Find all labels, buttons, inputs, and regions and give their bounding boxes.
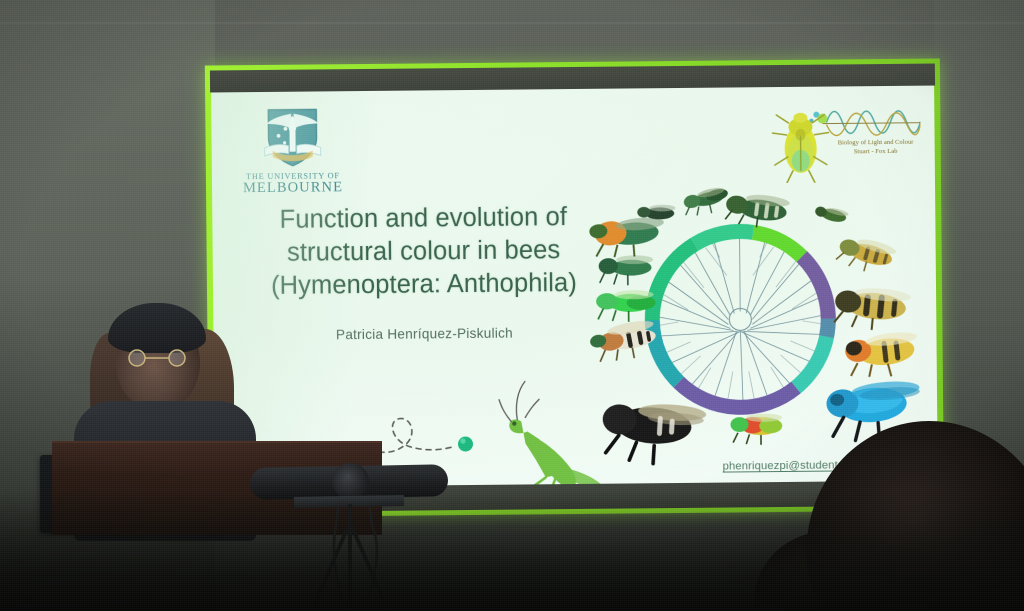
slide-title-line1: Function and evolution of [228, 201, 618, 238]
melbourne-crest-icon [258, 103, 327, 170]
glasses-icon [120, 349, 196, 367]
lab-logo-text: Biology of Light and Colour Stuart - Fox… [833, 138, 919, 157]
slide-title-line2: structural colour in bees [228, 234, 618, 271]
university-logo: THE UNIVERSITY OF MELBOURNE [239, 103, 346, 196]
conference-room-photo: THE UNIVERSITY OF MELBOURNE [0, 0, 1024, 611]
university-logo-line2: MELBOURNE [240, 180, 346, 196]
slide-author: Patricia Henríquez-Piskulich [229, 325, 619, 344]
beanie-hat [108, 303, 206, 353]
room-foreground-shadow [0, 491, 1024, 611]
lab-logo-line2: Stuart - Fox Lab [833, 147, 919, 157]
presentation-slide: THE UNIVERSITY OF MELBOURNE [211, 86, 938, 488]
lab-logo-line1: Biology of Light and Colour [833, 138, 919, 148]
slide-title-line3: (Hymenoptera: Anthophila) [229, 267, 619, 304]
slide-title: Function and evolution of structural col… [228, 201, 619, 304]
lab-logo: Biology of Light and Colour Stuart - Fox… [770, 94, 921, 183]
wall-seam-line [0, 22, 1024, 24]
